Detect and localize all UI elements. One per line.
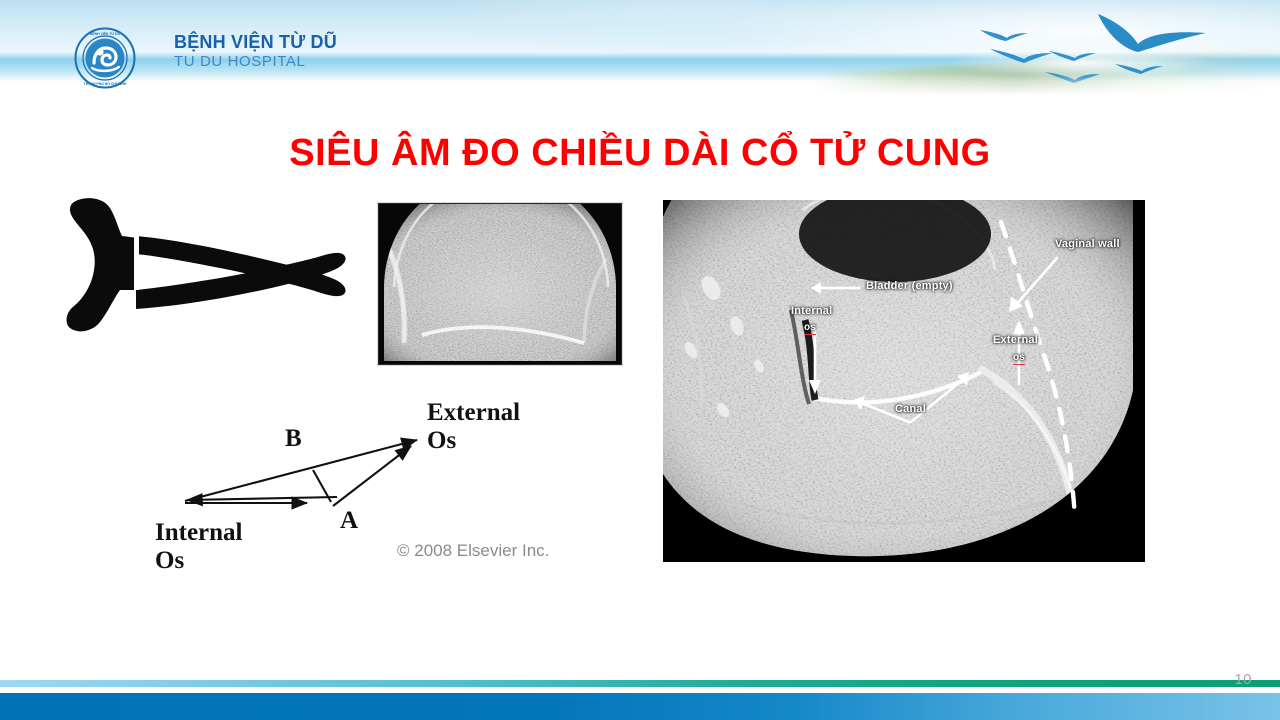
annotation-canal-label: Canal xyxy=(895,403,926,415)
elsevier-copyright: © 2008 Elsevier Inc. xyxy=(397,541,549,560)
internal-os-label-line2: Os xyxy=(155,547,184,574)
slide-content: B A External Os Internal Os © 2008 Elsev… xyxy=(0,0,1280,720)
annotation-internal-os-line1: Internal xyxy=(791,305,832,317)
internal-os-label-line1: Internal xyxy=(155,519,243,546)
external-os-label-line2: Os xyxy=(427,427,456,454)
transvaginal-cervix-ultrasound-small xyxy=(378,203,622,365)
external-os-label-line1: External xyxy=(427,399,520,426)
annotation-vaginal-wall-label: Vaginal wall xyxy=(1055,238,1120,250)
annotation-external-os-line2: os xyxy=(1013,352,1025,365)
annotation-bladder-label: Bladder (empty) xyxy=(866,280,953,292)
footer-bar xyxy=(0,693,1280,720)
annotation-external-os-line1: External xyxy=(993,334,1038,346)
annotation-internal-os-line2: os xyxy=(804,322,816,335)
vector-label-a: A xyxy=(340,507,358,534)
vector-label-b: B xyxy=(285,425,302,452)
cervical-length-measurement-vector-diagram: B A External Os Internal Os © 2008 Elsev… xyxy=(155,388,635,578)
page-number: 10 xyxy=(1234,671,1252,688)
cervix-funnelling-silhouette-diagram xyxy=(60,192,370,392)
footer-accent-stripe xyxy=(0,680,1280,687)
transvaginal-cervix-ultrasound-annotated: Bladder (empty) Internal os External os … xyxy=(663,200,1145,562)
